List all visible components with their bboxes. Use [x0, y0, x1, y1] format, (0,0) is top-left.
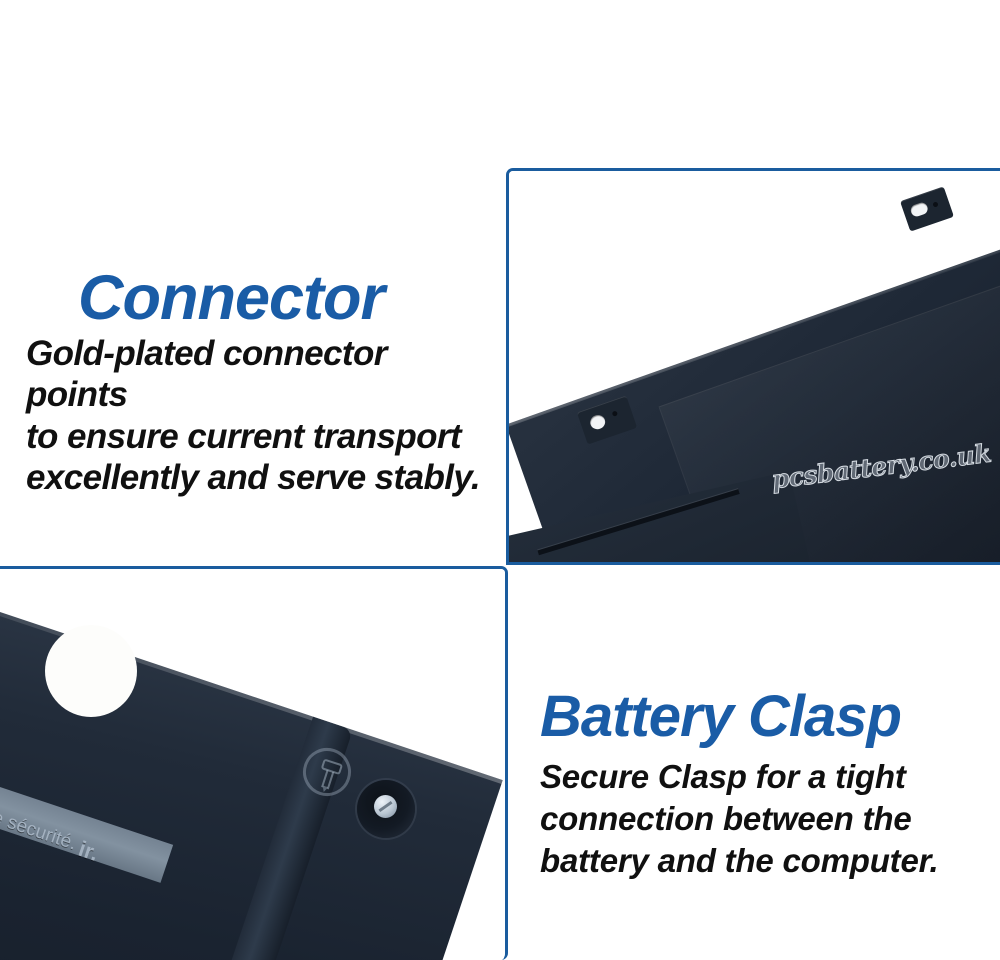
connector-description-line: excellently and serve stably.: [26, 457, 496, 498]
connector-photo: pcsbattery.co.uk: [509, 171, 1000, 562]
infographic-canvas: pcsbattery.co.uk vice ctions ur des inst…: [0, 0, 1000, 960]
clasp-photo-panel: vice ctions ur des instructions de sécur…: [0, 566, 508, 960]
connector-description-line: Gold-plated connector points: [26, 333, 496, 416]
clasp-description-line: Secure Clasp for a tight: [540, 756, 990, 798]
clasp-screw-boss: [357, 780, 415, 838]
silver-screw-icon: [374, 795, 397, 818]
clasp-heading: Battery Clasp: [540, 683, 901, 750]
connector-description: Gold-plated connector points to ensure c…: [26, 333, 496, 498]
clasp-description-line: connection between the: [540, 798, 990, 840]
alignment-pin-icon: [932, 201, 938, 207]
screw-hole-icon: [588, 413, 607, 431]
connector-description-line: to ensure current transport: [26, 416, 496, 457]
clasp-description-line: battery and the computer.: [540, 840, 990, 882]
screw-hole-icon: [909, 201, 929, 218]
clasp-description: Secure Clasp for a tight connection betw…: [540, 756, 990, 883]
connector-heading: Connector: [78, 262, 384, 334]
mounting-tab-right: [900, 186, 954, 231]
white-circle-overlay: [45, 625, 137, 717]
connector-photo-panel: pcsbattery.co.uk: [506, 168, 1000, 565]
alignment-pin-icon: [612, 410, 618, 416]
